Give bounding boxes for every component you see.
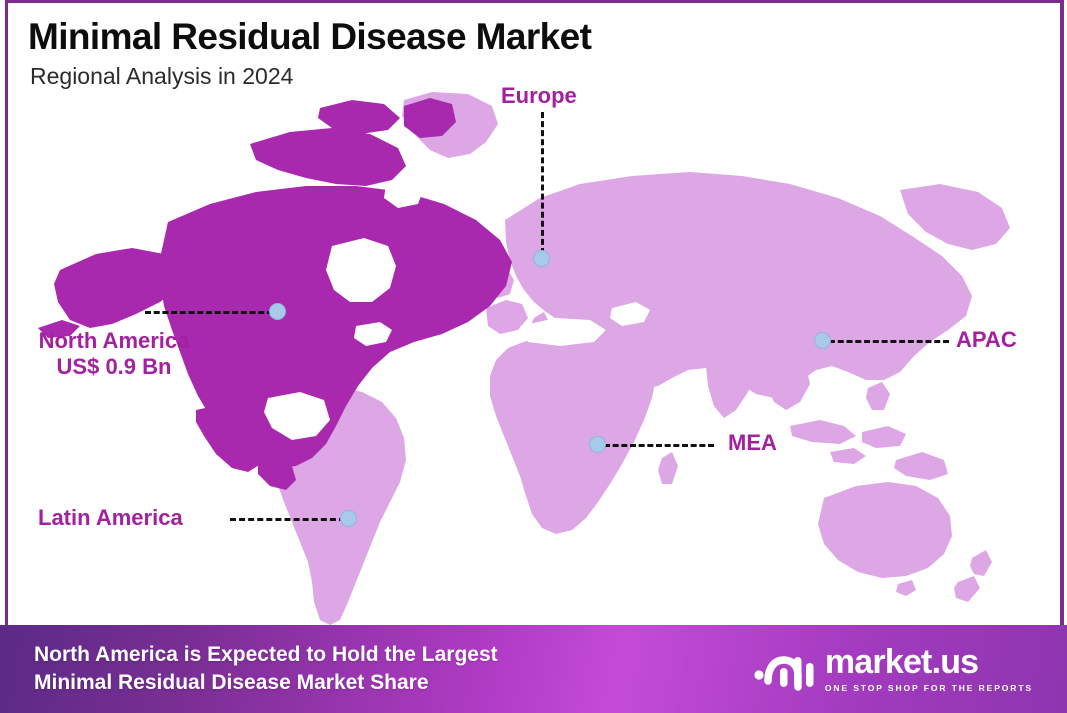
map-marker-latin-america[interactable]: [340, 510, 357, 527]
region-label-europe: Europe: [501, 83, 577, 109]
map-marker-north-america[interactable]: [269, 303, 286, 320]
map-marker-mea[interactable]: [589, 436, 606, 453]
leader-line-north-america: [145, 311, 273, 314]
footer-headline: North America is Expected to Hold the La…: [34, 641, 498, 697]
region-value-north-america: US$ 0.9 Bn: [14, 354, 214, 380]
infographic-poster: Minimal Residual Disease Market Regional…: [0, 0, 1067, 713]
brand-logo-text: market.us ONE STOP SHOP FOR THE REPORTS: [825, 645, 1033, 693]
region-label-apac: APAC: [956, 327, 1017, 353]
footer-banner: North America is Expected to Hold the La…: [0, 625, 1067, 713]
brand-tagline: ONE STOP SHOP FOR THE REPORTS: [825, 683, 1033, 693]
map-highlight-region-north-america: [38, 98, 512, 490]
brand-name: market.us: [825, 645, 1033, 679]
footer-headline-line1: North America is Expected to Hold the La…: [34, 641, 498, 669]
map-marker-apac[interactable]: [814, 332, 831, 349]
region-label-mea: MEA: [728, 430, 777, 456]
leader-line-europe: [541, 112, 544, 254]
region-label-north-america-name: North America: [39, 328, 190, 353]
page-title: Minimal Residual Disease Market: [28, 16, 591, 58]
leader-line-latin-america: [230, 518, 345, 521]
leader-line-apac: [829, 340, 949, 343]
map-marker-europe[interactable]: [533, 250, 550, 267]
market-us-logo-icon: [753, 647, 815, 691]
region-label-latin-america: Latin America: [38, 505, 183, 531]
leader-line-mea: [604, 444, 714, 447]
footer-headline-line2: Minimal Residual Disease Market Share: [34, 669, 498, 697]
frame-border-top: [5, 0, 1064, 3]
brand-logo[interactable]: market.us ONE STOP SHOP FOR THE REPORTS: [753, 645, 1033, 693]
region-label-north-america: North America US$ 0.9 Bn: [14, 328, 214, 380]
